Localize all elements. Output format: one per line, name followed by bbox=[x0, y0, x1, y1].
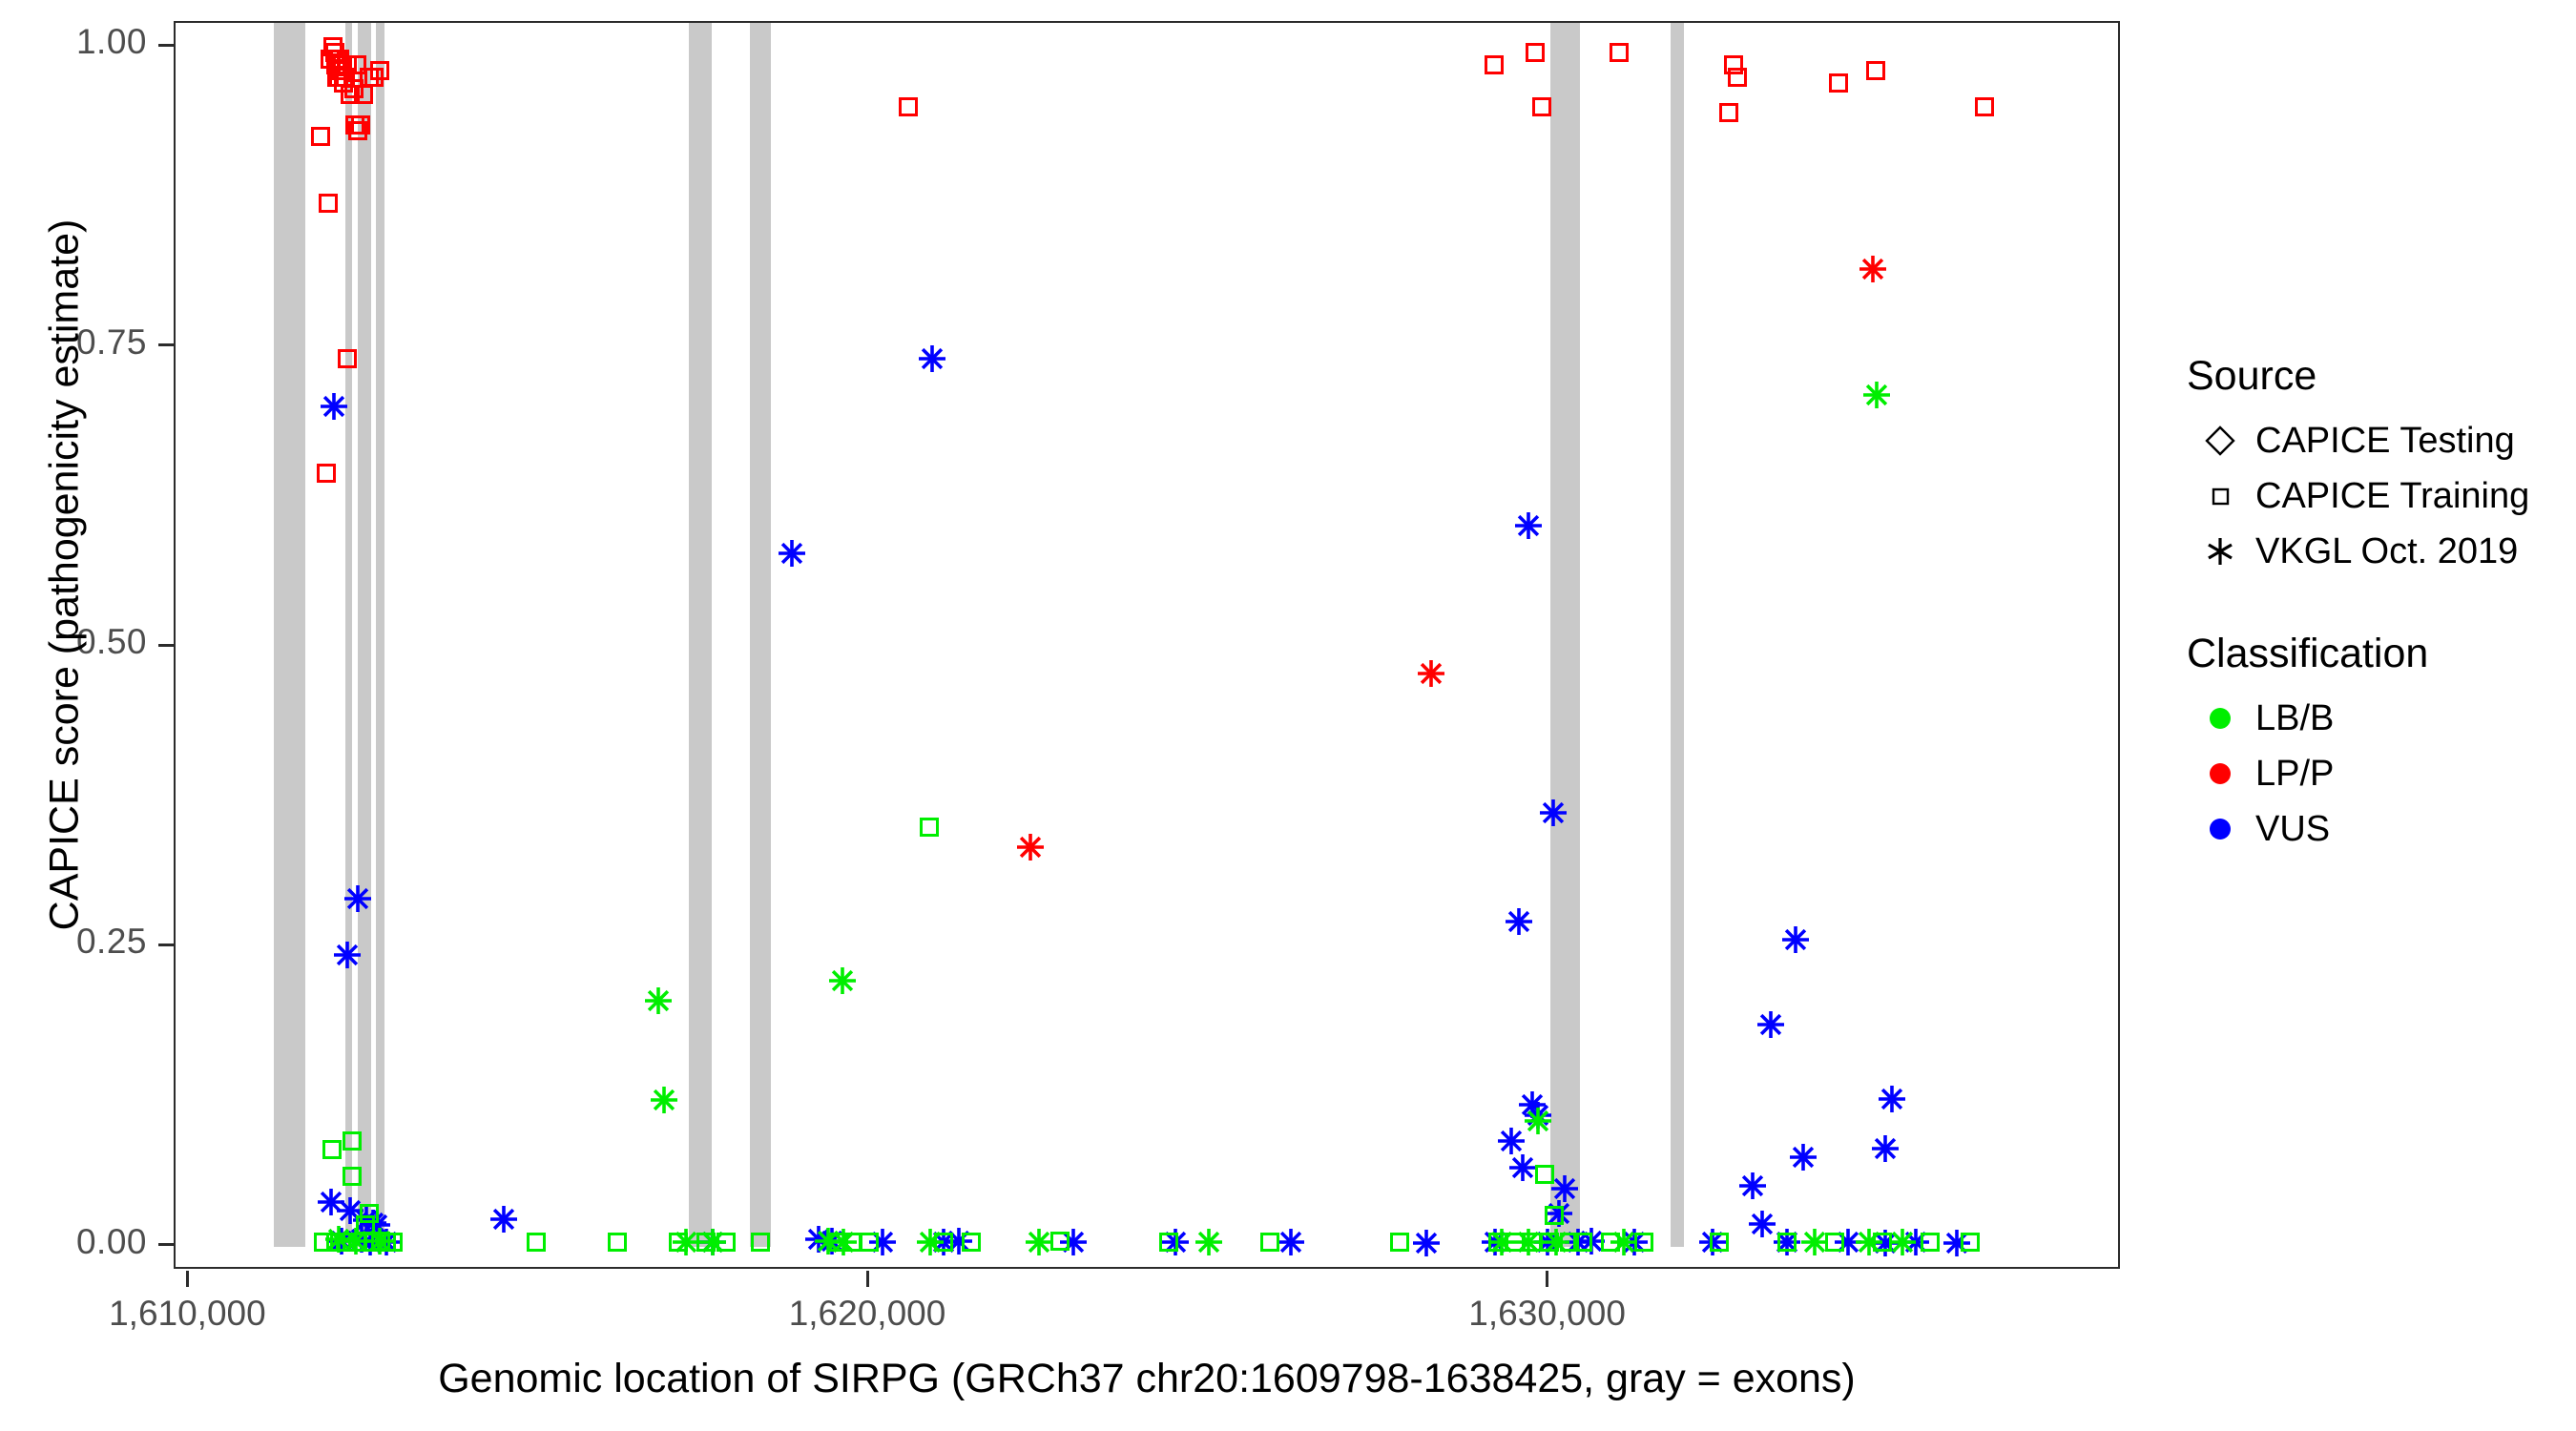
data-point bbox=[818, 1227, 846, 1255]
data-point bbox=[1514, 1228, 1543, 1256]
data-point bbox=[322, 1140, 342, 1159]
x-axis-tick-label: 1,630,000 bbox=[1468, 1294, 1626, 1334]
data-point bbox=[669, 1233, 688, 1252]
legend-item-vus[interactable]: VUS bbox=[2185, 801, 2566, 857]
data-point bbox=[1524, 1107, 1552, 1135]
data-point bbox=[1485, 55, 1504, 74]
data-point bbox=[1412, 1229, 1441, 1257]
data-point bbox=[1523, 1233, 1542, 1252]
data-point bbox=[1789, 1143, 1818, 1172]
plot-panel bbox=[174, 21, 2120, 1269]
asterisk-icon bbox=[2185, 534, 2255, 569]
data-point bbox=[319, 194, 338, 213]
data-point bbox=[1961, 1233, 1980, 1252]
y-axis-tick bbox=[158, 644, 174, 647]
data-point bbox=[321, 50, 340, 69]
data-point bbox=[1481, 1228, 1509, 1256]
data-point bbox=[608, 1233, 627, 1252]
data-point bbox=[317, 464, 336, 483]
square-icon bbox=[2185, 480, 2255, 512]
legend-item-vkgl[interactable]: VKGL Oct. 2019 bbox=[2185, 524, 2566, 579]
data-point bbox=[920, 818, 939, 837]
data-point bbox=[1610, 43, 1629, 62]
data-point bbox=[1526, 43, 1545, 62]
data-point bbox=[1016, 833, 1045, 861]
data-point bbox=[1728, 68, 1747, 87]
data-point bbox=[644, 986, 673, 1015]
data-point bbox=[1901, 1228, 1930, 1256]
data-point bbox=[1800, 1228, 1829, 1256]
legend-label-lpp: LP/P bbox=[2255, 754, 2334, 795]
data-point bbox=[1724, 55, 1743, 74]
data-point bbox=[489, 1205, 518, 1234]
legend-label-capice-training: CAPICE Training bbox=[2255, 476, 2529, 517]
data-point bbox=[317, 1188, 345, 1216]
data-point bbox=[326, 1233, 345, 1252]
data-point bbox=[327, 68, 346, 87]
exon-band bbox=[274, 23, 304, 1247]
data-point bbox=[1834, 1228, 1862, 1256]
x-axis-tick bbox=[186, 1271, 189, 1287]
circle-blue-icon bbox=[2185, 813, 2255, 845]
data-point bbox=[1975, 97, 1994, 116]
diamond-icon bbox=[2185, 425, 2255, 457]
y-axis-title-wrap: CAPICE score (pathogenicity estimate) bbox=[0, 0, 1, 1]
data-point bbox=[945, 1227, 973, 1255]
data-point bbox=[1773, 1228, 1801, 1256]
data-point bbox=[1620, 1228, 1649, 1256]
legend-label-lbb: LB/B bbox=[2255, 698, 2334, 739]
data-point bbox=[1524, 1101, 1552, 1130]
data-point bbox=[1514, 511, 1543, 540]
data-point bbox=[1829, 73, 1848, 93]
legend-title-source: Source bbox=[2187, 353, 2566, 400]
data-point bbox=[1698, 1228, 1727, 1256]
data-point bbox=[962, 1233, 981, 1252]
data-point bbox=[1719, 103, 1738, 122]
data-point bbox=[1025, 1228, 1053, 1256]
data-point bbox=[1921, 1233, 1940, 1252]
x-axis-tick bbox=[866, 1271, 869, 1287]
exon-band bbox=[689, 23, 712, 1247]
data-point bbox=[1777, 1233, 1797, 1252]
data-point bbox=[918, 344, 946, 373]
y-axis-tick bbox=[158, 944, 174, 946]
data-point bbox=[326, 50, 345, 69]
data-point bbox=[1601, 1233, 1620, 1252]
data-point bbox=[1390, 1233, 1409, 1252]
data-point bbox=[1195, 1228, 1223, 1256]
data-point bbox=[1059, 1228, 1088, 1256]
data-point bbox=[1756, 1010, 1785, 1039]
y-axis-tick bbox=[158, 44, 174, 47]
data-point bbox=[1050, 1232, 1070, 1251]
data-point bbox=[860, 1233, 879, 1252]
data-point bbox=[1577, 1227, 1606, 1255]
y-axis-tick bbox=[158, 1243, 174, 1246]
data-point bbox=[314, 1233, 333, 1252]
data-point bbox=[717, 1233, 736, 1252]
data-point bbox=[868, 1228, 897, 1256]
data-point bbox=[650, 1086, 678, 1114]
circle-green-icon bbox=[2185, 702, 2255, 735]
data-point bbox=[326, 55, 345, 74]
circle-red-icon bbox=[2185, 757, 2255, 790]
data-point bbox=[929, 1228, 958, 1256]
data-point bbox=[1859, 255, 1887, 283]
data-point bbox=[323, 37, 343, 56]
legend-group-source: Source CAPICE Testing CAPICE Training bbox=[2185, 353, 2566, 579]
data-point bbox=[1161, 1228, 1190, 1256]
data-point bbox=[1532, 97, 1551, 116]
data-point bbox=[1942, 1229, 1971, 1257]
data-point bbox=[1710, 1233, 1729, 1252]
data-point bbox=[1518, 1090, 1547, 1119]
data-point bbox=[1506, 1233, 1525, 1252]
exon-band bbox=[345, 23, 353, 1247]
data-point bbox=[814, 1227, 842, 1255]
legend-item-capice-testing[interactable]: CAPICE Testing bbox=[2185, 413, 2566, 468]
data-point bbox=[1738, 1172, 1767, 1200]
legend: Source CAPICE Testing CAPICE Training bbox=[2185, 353, 2566, 908]
exon-band bbox=[1671, 23, 1684, 1247]
data-point bbox=[1277, 1228, 1305, 1256]
data-point bbox=[1871, 1229, 1900, 1257]
data-point bbox=[1871, 1134, 1900, 1163]
y-axis-title: CAPICE score (pathogenicity estimate) bbox=[42, 194, 89, 957]
legend-label-vus: VUS bbox=[2255, 809, 2330, 850]
legend-title-classification: Classification bbox=[2187, 631, 2566, 677]
data-point bbox=[778, 539, 806, 568]
data-point bbox=[842, 1233, 862, 1252]
data-point bbox=[384, 1233, 403, 1252]
exon-band bbox=[1550, 23, 1580, 1247]
legend-label-capice-testing: CAPICE Testing bbox=[2255, 421, 2515, 462]
x-axis-tick-label: 1,610,000 bbox=[109, 1294, 266, 1334]
y-axis-tick-label: 1.00 bbox=[0, 22, 147, 62]
plot-area bbox=[176, 23, 2118, 1267]
x-axis-tick-label: 1,620,000 bbox=[789, 1294, 946, 1334]
y-axis-tick bbox=[158, 343, 174, 346]
legend-item-lpp[interactable]: LP/P bbox=[2185, 746, 2566, 801]
data-point bbox=[311, 127, 330, 146]
data-point bbox=[916, 1228, 945, 1256]
data-point bbox=[1862, 381, 1891, 409]
data-point bbox=[1488, 1233, 1507, 1252]
legend-group-classification: Classification LB/B LP/P VUS bbox=[2185, 631, 2566, 857]
data-point bbox=[1748, 1210, 1776, 1238]
data-point bbox=[934, 1233, 953, 1252]
data-point bbox=[828, 966, 857, 995]
exon-band bbox=[376, 23, 384, 1247]
data-point bbox=[1873, 1233, 1892, 1252]
data-point bbox=[1878, 1085, 1906, 1113]
exon-band bbox=[750, 23, 771, 1247]
data-point bbox=[1487, 1228, 1516, 1256]
legend-item-capice-training[interactable]: CAPICE Training bbox=[2185, 468, 2566, 524]
legend-item-lbb[interactable]: LB/B bbox=[2185, 691, 2566, 746]
exon-band bbox=[358, 23, 371, 1247]
data-point bbox=[1497, 1127, 1526, 1155]
data-point bbox=[527, 1233, 546, 1252]
data-point bbox=[1159, 1233, 1178, 1252]
y-axis-tick-label: 0.00 bbox=[0, 1222, 147, 1262]
data-point bbox=[325, 43, 344, 62]
data-point bbox=[1855, 1228, 1883, 1256]
data-point bbox=[1417, 659, 1445, 688]
data-point bbox=[1866, 61, 1885, 80]
x-axis-title: Genomic location of SIRPG (GRCh37 chr20:… bbox=[174, 1356, 2120, 1402]
data-point bbox=[1888, 1228, 1917, 1256]
x-axis-tick bbox=[1546, 1271, 1548, 1287]
data-point bbox=[1260, 1233, 1279, 1252]
legend-label-vkgl: VKGL Oct. 2019 bbox=[2255, 531, 2518, 572]
data-point bbox=[804, 1225, 833, 1254]
data-point bbox=[899, 97, 918, 116]
data-point bbox=[1781, 925, 1810, 954]
data-point bbox=[829, 1233, 848, 1252]
data-point bbox=[1610, 1228, 1638, 1256]
data-point bbox=[829, 1228, 858, 1256]
data-point bbox=[1634, 1233, 1653, 1252]
data-point bbox=[1505, 907, 1533, 936]
data-point bbox=[1825, 1233, 1844, 1252]
data-point bbox=[1508, 1153, 1537, 1182]
